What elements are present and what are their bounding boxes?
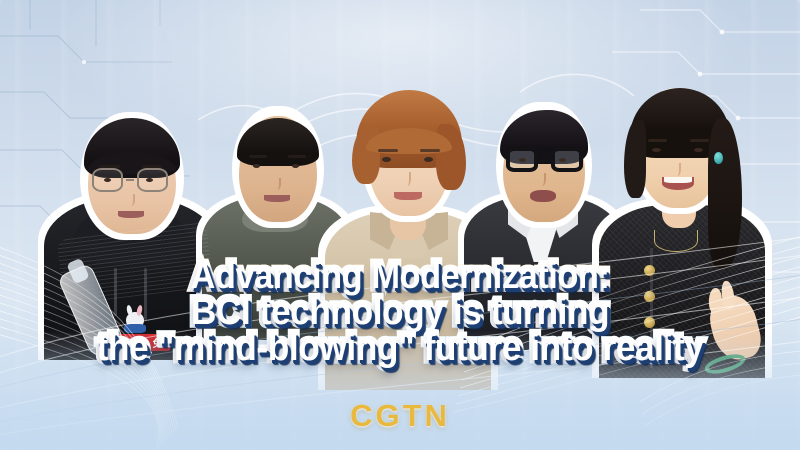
earring-icon xyxy=(714,152,723,164)
cgtn-logo: CGTN xyxy=(0,398,800,434)
cover-graphic: 大 熊 宠 兔 xyxy=(0,0,800,450)
headline-line-2: BCI technology is turning xyxy=(28,294,772,330)
headline-line-1: Advancing Modernization: xyxy=(28,258,772,294)
person-4-glasses xyxy=(506,147,583,172)
headline: Advancing Modernization: BCI technology … xyxy=(0,258,800,366)
people-row: 大 熊 宠 兔 xyxy=(0,0,800,450)
headline-line-3: the "mind-blowing" future into reality xyxy=(28,330,772,366)
